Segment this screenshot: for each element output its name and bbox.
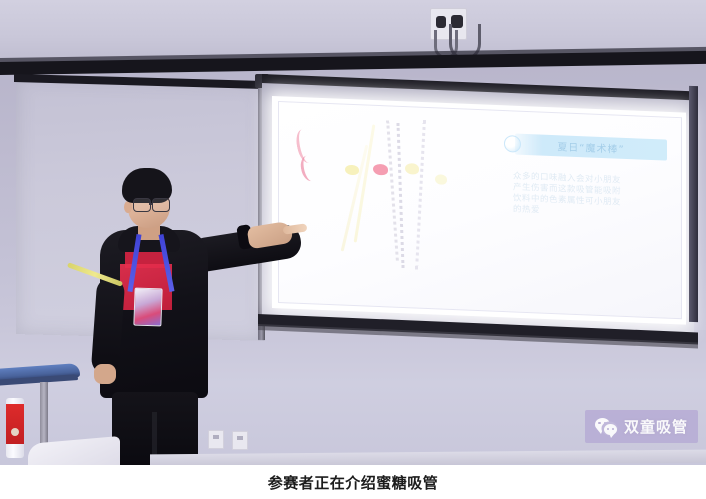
socket-hole-left (436, 16, 446, 28)
photograph: 夏日“魔术棒” 众多的口味融入会对小朋友 产生伤害而这款吸管能吸附 饮料中的色素… (0, 0, 706, 465)
screenshot-root: 夏日“魔术棒” 众多的口味融入会对小朋友 产生伤害而这款吸管能吸附 饮料中的色素… (0, 0, 706, 499)
wechat-eye-2 (604, 422, 606, 424)
wechat-bubble-small (604, 424, 617, 435)
wechat-icon (595, 418, 618, 436)
glasses-left-lens (133, 198, 151, 212)
watermark: 双童吸管 (585, 410, 698, 443)
water-bottle-label (6, 404, 24, 444)
pointing-finger (283, 223, 308, 234)
slide-title-band: 夏日“魔术棒” (515, 134, 667, 161)
pink-blob (373, 164, 388, 176)
wall-outlet-right (232, 431, 248, 450)
slide-title: 夏日“魔术棒” (557, 138, 624, 156)
presenter-left-hand (94, 364, 116, 384)
glasses-right-lens (152, 198, 170, 212)
projection-screen: 夏日“魔术棒” 众多的口味融入会对小朋友 产生伤害而这款吸管能吸附 饮料中的色素… (278, 101, 682, 319)
watermark-account-name: 双童吸管 (624, 416, 688, 437)
wechat-eye-1 (598, 422, 600, 424)
name-badge (133, 288, 162, 327)
yellow-blob-2 (405, 163, 419, 175)
caption-text: 参赛者正在介绍蜜糖吸管 (268, 472, 439, 493)
colored-straws-graphic (295, 111, 495, 299)
yellow-blob-3 (435, 174, 447, 184)
dotted-straw-3 (415, 120, 426, 270)
wechat-eye-3 (607, 428, 609, 430)
glasses-bridge (149, 203, 153, 205)
wall-outlet-left (208, 430, 224, 449)
caption-bar: 参赛者正在介绍蜜糖吸管 (0, 465, 706, 499)
wechat-eye-4 (612, 428, 614, 430)
yellow-blob (345, 165, 359, 176)
slide-body-text: 众多的口味融入会对小朋友 产生伤害而这款吸管能吸附 饮料中的色素属性可小朋友 的… (513, 171, 669, 221)
presenter (78, 168, 313, 465)
water-bottle-label-mark (11, 428, 19, 436)
projection-screen-right-edge (689, 86, 698, 322)
